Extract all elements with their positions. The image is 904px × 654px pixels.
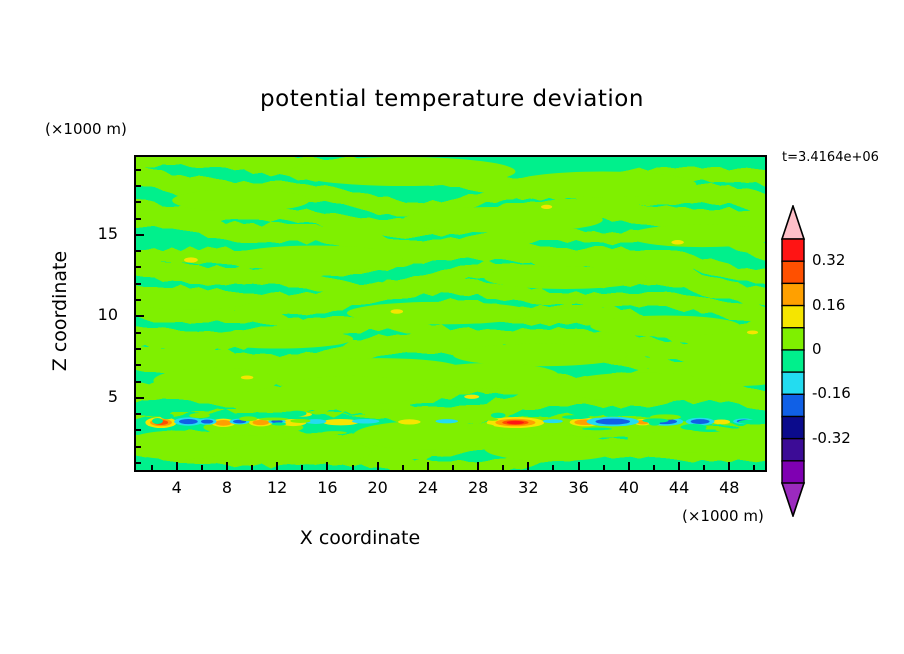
contour-cell [543,419,563,423]
y-axis-minor-tick [134,381,141,383]
contour-cell [239,416,257,421]
contour-cell [272,422,287,425]
contour-cell [713,419,730,424]
colorbar-band [782,328,804,351]
x-axis-tick [326,462,328,472]
x-axis-tick-label: 36 [557,478,601,497]
y-axis-minor-tick [134,332,141,334]
contour-cell [153,368,278,394]
figure-canvas: potential temperature deviation (×1000 m… [0,0,904,654]
x-axis-tick-label: 40 [607,478,651,497]
colorbar-band [782,239,804,262]
y-axis-minor-tick [134,462,141,464]
y-axis-minor-tick [134,299,141,301]
x-axis-tick-label: 4 [155,478,199,497]
y-axis-minor-tick [134,169,141,171]
x-axis-tick-label: 12 [255,478,299,497]
contour-cell [189,413,209,418]
x-axis-minor-tick [502,465,504,472]
contour-cell [671,240,683,245]
y-axis-tick [134,315,144,317]
contour-cell [259,418,288,421]
contour-cell [201,420,213,424]
contour-cell [235,439,372,465]
y-axis-minor-tick [134,185,141,187]
y-axis-minor-tick [134,429,141,431]
x-axis-tick [176,462,178,472]
x-axis-tick [477,462,479,472]
contour-cell [716,428,740,431]
contour-cell [288,411,307,417]
contour-cell [507,421,524,424]
x-axis-tick-label: 16 [305,478,349,497]
x-axis-tick [377,462,379,472]
y-axis-tick-label: 5 [86,387,118,406]
contour-cell [487,418,498,420]
x-axis-tick-label: 28 [456,478,500,497]
contour-cell [747,330,758,334]
contour-cell [352,419,379,424]
y-axis-minor-tick [134,250,141,252]
y-axis-tick [134,234,144,236]
x-axis-tick [527,462,529,472]
contour-cell [152,418,163,424]
x-axis-minor-tick [753,465,755,472]
x-axis-tick-label: 24 [406,478,450,497]
contour-cell [376,409,402,414]
y-axis-minor-tick [134,218,141,220]
contour-cell [649,420,660,425]
x-axis-tick-label: 44 [657,478,701,497]
y-axis-tick-label: 10 [86,305,118,324]
x-axis-minor-tick [151,465,153,472]
colorbar-band [782,306,804,329]
contour-cell [322,431,347,434]
contour-cell [422,363,559,389]
x-axis-tick-label: 8 [205,478,249,497]
x-axis-minor-tick [201,465,203,472]
x-axis-minor-tick [251,465,253,472]
colorbar-band [782,350,804,373]
x-axis-tick [628,462,630,472]
contour-cell [436,419,458,423]
contour-cell [690,427,705,431]
x-axis-minor-tick [301,465,303,472]
contour-cell [291,157,516,186]
contour-cell [562,415,590,419]
contour-cell [590,316,740,337]
contour-cell [183,420,193,423]
y-axis-minor-tick [134,348,141,350]
contour-cell [278,376,428,405]
y-axis-minor-tick [134,364,141,366]
x-axis-tick [276,462,278,472]
contour-cell [347,302,534,325]
contour-cell [172,189,309,212]
y-axis-tick [134,397,144,399]
colorbar-tick-label: -0.16 [812,384,851,402]
contour-cell [228,246,403,272]
contour-cell [403,207,603,233]
contour-cell [585,411,603,416]
y-axis-minor-tick [134,266,141,268]
y-axis-minor-tick [134,413,141,415]
colorbar-tick-label: 0.16 [812,296,845,314]
x-axis-tick [427,462,429,472]
contour-cell [184,257,198,262]
contour-cell [701,413,713,418]
x-axis-tick-label: 48 [707,478,751,497]
contour-cell [161,413,174,419]
x-axis-tick [226,462,228,472]
colorbar [778,205,808,517]
contour-field [136,157,765,470]
y-axis-title: Z coordinate [49,211,71,411]
colorbar-band [782,261,804,284]
colorbar-tick-label: 0.32 [812,251,845,269]
x-axis-unit-label: (×1000 m) [682,507,764,525]
contour-cell [695,420,705,423]
colorbar-tick-label: 0 [812,340,822,358]
contour-cell [603,420,622,423]
colorbar-band [782,416,804,439]
x-axis-tick-label: 20 [356,478,400,497]
contour-cell [241,376,253,380]
x-axis-minor-tick [402,465,404,472]
contour-cell [391,309,403,314]
contour-cell [582,428,612,431]
colorbar-band [782,372,804,395]
contour-cell [464,395,479,399]
x-axis-tick [578,462,580,472]
x-axis-minor-tick [603,465,605,472]
contour-cell [453,344,628,367]
x-axis-minor-tick [653,465,655,472]
colorbar-band [782,283,804,306]
contour-cell [484,435,621,461]
time-annotation: t=3.4164e+06 [782,150,879,165]
contour-cell [491,413,506,419]
contour-cell [467,424,494,430]
x-axis-minor-tick [703,465,705,472]
colorbar-swatches [778,205,808,517]
x-axis-minor-tick [552,465,554,472]
y-axis-minor-tick [134,446,141,448]
x-axis-minor-tick [452,465,454,472]
y-axis-unit-label: (×1000 m) [45,120,127,138]
x-axis-tick [678,462,680,472]
y-axis-tick-label: 15 [86,224,118,243]
contour-cell [253,420,270,425]
contour-cell [215,420,232,426]
x-axis-tick-label: 32 [506,478,550,497]
contour-plot-area [134,155,767,472]
contour-cell [509,171,696,197]
x-axis-title: X coordinate [0,527,720,549]
colorbar-band [782,461,804,484]
page-title: potential temperature deviation [0,86,904,112]
contour-cell [398,419,420,424]
contour-cell [290,419,310,423]
contour-cell [203,329,353,348]
y-axis-minor-tick [134,283,141,285]
contour-cell [541,205,552,209]
x-axis-tick [728,462,730,472]
colorbar-band [782,439,804,462]
colorbar-band [782,394,804,417]
contour-cell [484,266,646,289]
y-axis-minor-tick [134,201,141,203]
x-axis-minor-tick [352,465,354,472]
colorbar-tick-label: -0.32 [812,429,851,447]
contour-cell [738,420,764,424]
